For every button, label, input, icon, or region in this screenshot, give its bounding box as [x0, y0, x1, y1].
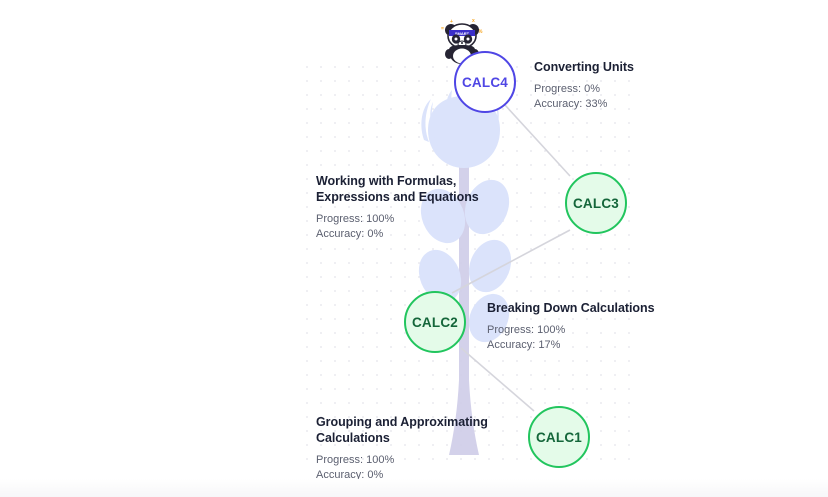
link-calc4-calc3 [505, 105, 570, 176]
skill-node-calc4-label: CALC4 [462, 75, 508, 90]
skill-accuracy-calc4: Accuracy: 33% [534, 97, 724, 111]
skill-title-calc4: Converting Units [534, 59, 724, 75]
skill-progress-calc4: Progress: 0% [534, 82, 724, 96]
link-calc2-calc1 [461, 348, 534, 411]
skill-accuracy-calc2: Accuracy: 17% [487, 338, 697, 352]
skill-title-calc1: Grouping and Approximating Calculations [316, 414, 556, 446]
skill-progress-calc2: Progress: 100% [487, 323, 697, 337]
sparkle-x: x [472, 18, 475, 24]
sparkle-equals: = [441, 26, 444, 32]
skill-tree-canvas: + x = % SMART CALC4 CALC3 CALC2 [0, 0, 828, 497]
skill-progress-calc1: Progress: 100% [316, 453, 556, 467]
skill-stats-calc2: Progress: 100% Accuracy: 17% [487, 323, 697, 352]
skill-title-calc2: Breaking Down Calculations [487, 300, 697, 316]
skill-title-calc3: Working with Formulas, Expressions and E… [316, 173, 514, 205]
skill-node-calc3[interactable]: CALC3 [565, 172, 627, 234]
skill-node-calc2[interactable]: CALC2 [404, 291, 466, 353]
skill-node-calc3-label: CALC3 [573, 196, 619, 211]
skill-node-calc4[interactable]: CALC4 [454, 51, 516, 113]
skill-node-calc2-label: CALC2 [412, 315, 458, 330]
bottom-edge-strip [0, 479, 828, 497]
skill-info-calc2: Breaking Down Calculations Progress: 100… [487, 300, 697, 352]
skill-info-calc4: Converting Units Progress: 0% Accuracy: … [534, 59, 724, 111]
skill-stats-calc4: Progress: 0% Accuracy: 33% [534, 82, 724, 111]
skill-info-calc3: Working with Formulas, Expressions and E… [316, 173, 514, 241]
skill-progress-calc3: Progress: 100% [316, 212, 514, 226]
skill-accuracy-calc3: Accuracy: 0% [316, 227, 514, 241]
skill-stats-calc3: Progress: 100% Accuracy: 0% [316, 212, 514, 241]
skill-stats-calc1: Progress: 100% Accuracy: 0% [316, 453, 556, 482]
skill-info-calc1: Grouping and Approximating Calculations … [316, 414, 556, 482]
